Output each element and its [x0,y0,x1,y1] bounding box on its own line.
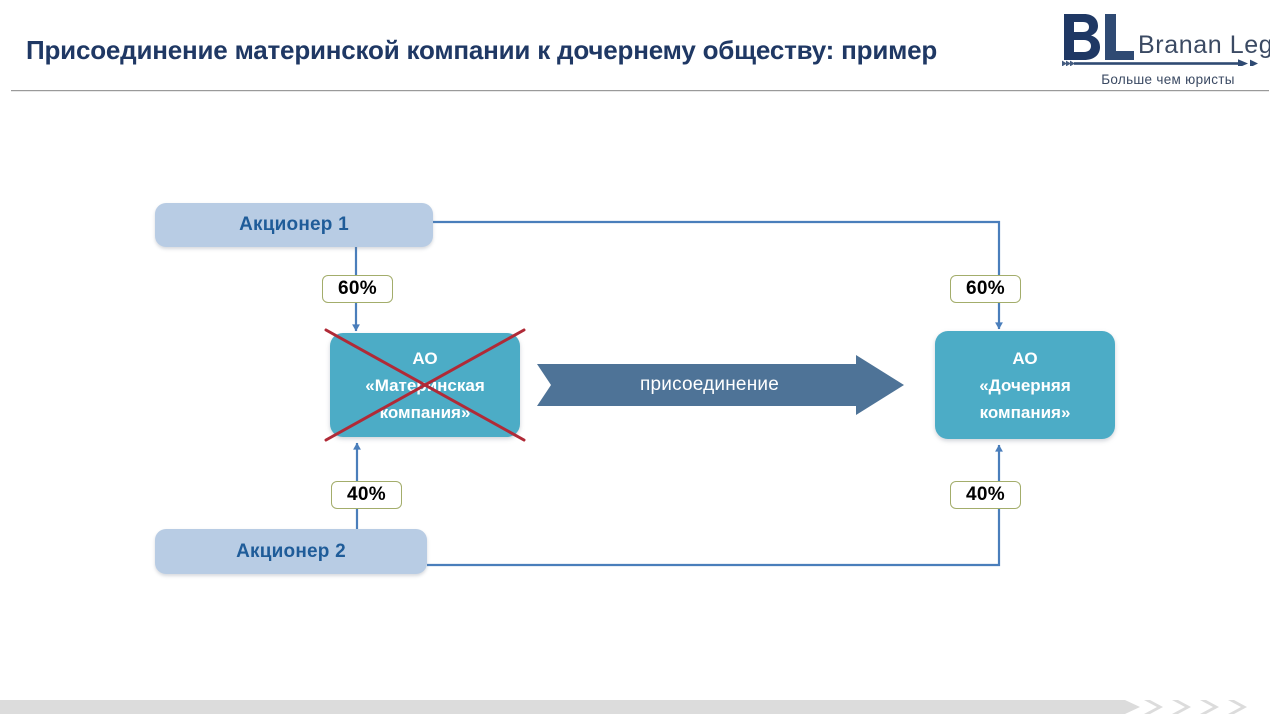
parent-company-line-1: АО [412,345,437,372]
ownership-label-shareholder1-subsidiary: 60% [950,275,1021,303]
subsidiary-company-line-2: «Дочерняя [979,372,1071,399]
slide: Присоединение материнской компании к доч… [0,0,1280,720]
shareholder-2-label: Акционер 2 [236,541,346,563]
subsidiary-company-box[interactable]: АО «Дочерняя компания» [935,331,1115,439]
subsidiary-company-line-1: АО [1012,345,1037,372]
ownership-label-shareholder2-parent: 40% [331,481,402,509]
diagram-canvas: присоединение Акционер 1 Акционер 2 АО «… [0,0,1280,720]
shareholder-2-box[interactable]: Акционер 2 [155,529,427,574]
shareholder-1-label: Акционер 1 [239,214,349,236]
parent-company-line-3: компания» [380,399,471,426]
parent-company-box[interactable]: АО «Материнская компания» [330,333,520,437]
subsidiary-company-line-3: компания» [980,399,1071,426]
ownership-label-shareholder2-subsidiary: 40% [950,481,1021,509]
footer-bar [0,694,1280,720]
parent-company-line-2: «Материнская [365,372,485,399]
ownership-label-shareholder1-parent: 60% [322,275,393,303]
merger-arrow-label: присоединение [537,355,882,415]
shareholder-1-box[interactable]: Акционер 1 [155,203,433,247]
